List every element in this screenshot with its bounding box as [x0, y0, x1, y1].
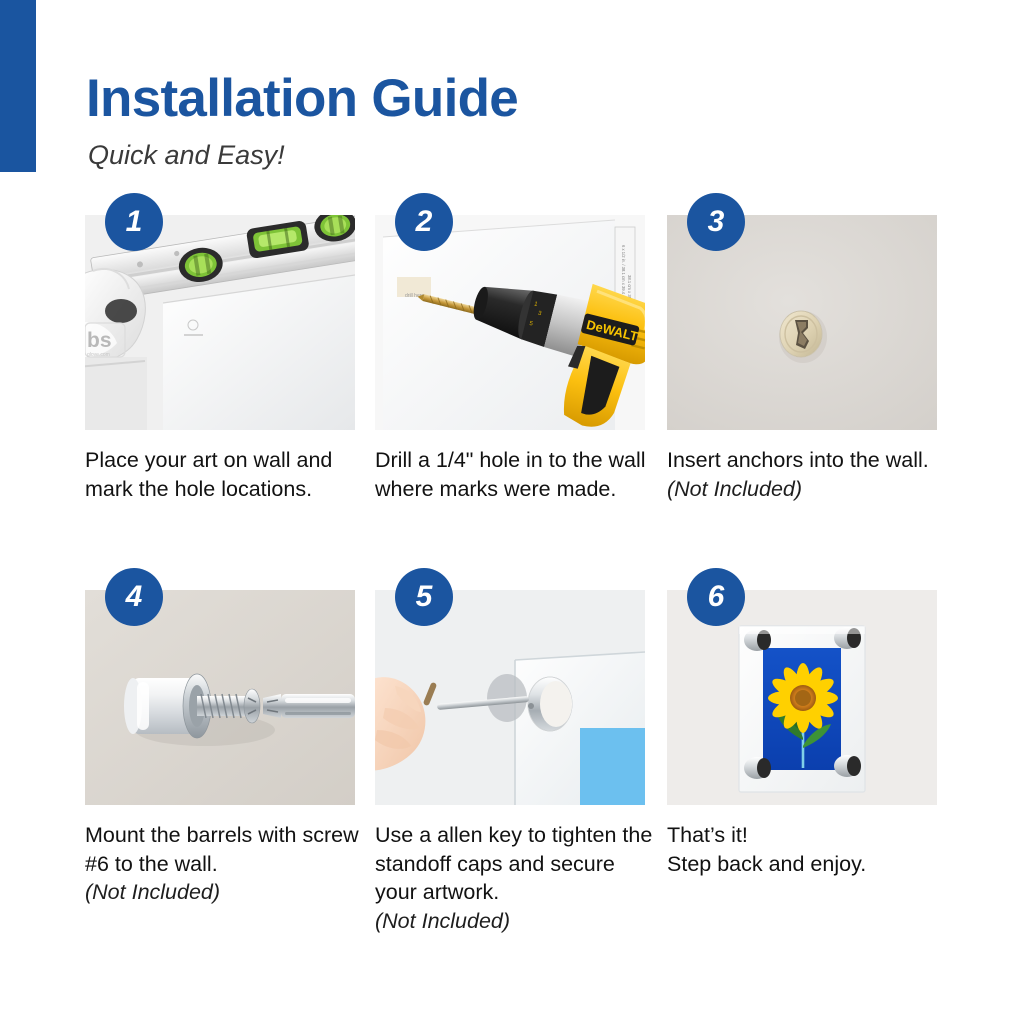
- step-card-4: 4 Mount the barrels with screw #6 to the…: [85, 590, 355, 907]
- step-card-3: 3 Insert anchors into the wall. (Not Inc…: [667, 215, 937, 503]
- step-caption-6: That’s it! Step back and enjoy.: [667, 821, 945, 878]
- step-card-6: 6 That’s it! Step back and enjoy.: [667, 590, 937, 878]
- step-badge-2: 2: [395, 193, 453, 251]
- svg-text:glove.com: glove.com: [87, 352, 110, 358]
- step-2-thumb-wrap: drill here 6 x 1/2 in. / 38.1 cm x 39.4 …: [375, 215, 645, 430]
- steps-row-2: 4 Mount the barrels with screw #6 to the…: [0, 590, 1024, 965]
- step-caption-1-text: Place your art on wall and mark the hole…: [85, 448, 332, 501]
- svg-text:bs: bs: [87, 329, 112, 352]
- page-subtitle: Quick and Easy!: [88, 142, 285, 169]
- step-6-thumb-wrap: 6: [667, 590, 937, 805]
- steps-grid: bs glove.com 1 Place your art on wall an…: [0, 215, 1024, 965]
- step-caption-2: Drill a 1/4" hole in to the wall where m…: [375, 446, 653, 503]
- step-4-thumb-wrap: 4: [85, 590, 355, 805]
- page-title: Installation Guide: [86, 72, 518, 125]
- svg-text:6 x 1/2 in. / 38.1 cm x 39.4 c: 6 x 1/2 in. / 38.1 cm x 39.4 cm: [621, 245, 626, 301]
- accent-bar: [0, 0, 36, 172]
- step-badge-6: 6: [687, 568, 745, 626]
- step-caption-4-text: Mount the barrels with screw #6 to the w…: [85, 823, 359, 876]
- step-badge-4: 4: [105, 568, 163, 626]
- step-card-2: drill here 6 x 1/2 in. / 38.1 cm x 39.4 …: [375, 215, 645, 503]
- step-badge-1: 1: [105, 193, 163, 251]
- step-badge-3: 3: [687, 193, 745, 251]
- step-note-4: (Not Included): [85, 878, 363, 907]
- page-header: Installation Guide Quick and Easy!: [0, 0, 1024, 200]
- step-caption-1: Place your art on wall and mark the hole…: [85, 446, 363, 503]
- step-badge-5: 5: [395, 568, 453, 626]
- step-caption-4: Mount the barrels with screw #6 to the w…: [85, 821, 363, 907]
- step-3-thumb-wrap: 3: [667, 215, 937, 430]
- step-1-thumb-wrap: bs glove.com 1: [85, 215, 355, 430]
- step-caption-3: Insert anchors into the wall. (Not Inclu…: [667, 446, 945, 503]
- step-5-thumb-wrap: 5: [375, 590, 645, 805]
- step-caption-2-text: Drill a 1/4" hole in to the wall where m…: [375, 448, 646, 501]
- step-card-1: bs glove.com 1 Place your art on wall an…: [85, 215, 355, 503]
- step-caption-5-text: Use a allen key to tighten the standoff …: [375, 823, 652, 904]
- step-note-5: (Not Included): [375, 907, 653, 936]
- step-card-5: 5 Use a allen key to tighten the standof…: [375, 590, 645, 935]
- step-caption-5: Use a allen key to tighten the standoff …: [375, 821, 653, 935]
- steps-row-1: bs glove.com 1 Place your art on wall an…: [0, 215, 1024, 590]
- step-caption-6-text: That’s it! Step back and enjoy.: [667, 823, 866, 876]
- step-note-3: (Not Included): [667, 477, 802, 501]
- step-caption-3-text: Insert anchors into the wall.: [667, 448, 929, 472]
